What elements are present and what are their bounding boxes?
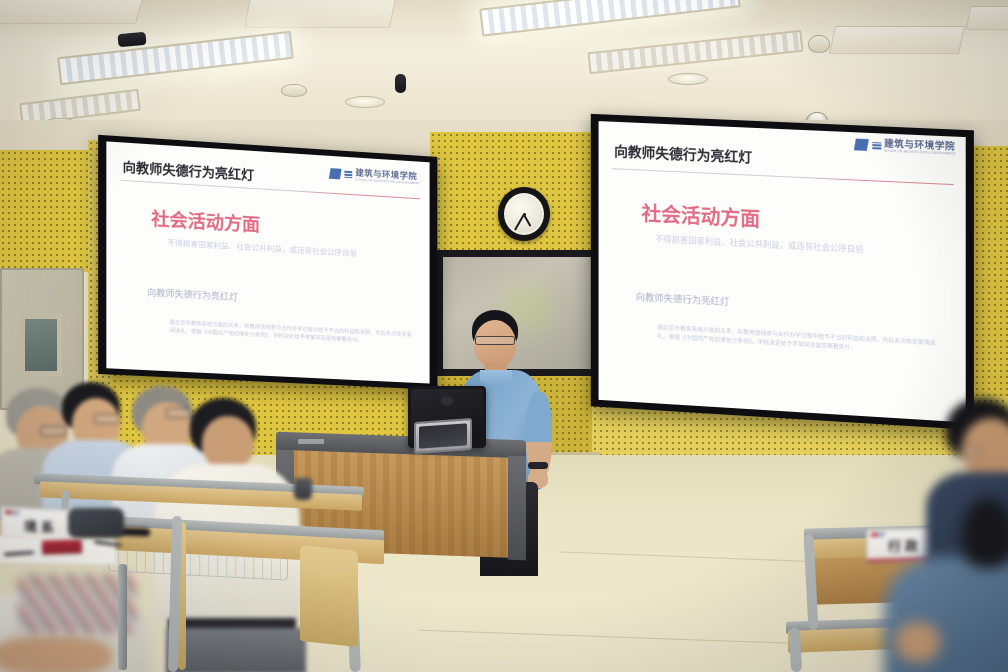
slide-section-heading: 向教师失德行为亮红灯 [147,285,238,303]
ceiling-speaker-2 [395,74,406,93]
clock-face [506,195,542,233]
left-slide: 向教师失德行为亮红灯 建筑与环境学院 SCHOOL OF ARCHITECTUR… [106,141,429,383]
placard-right-text: 行政 [888,535,922,555]
institution-logo-right: 建筑与环境学院 SCHOOL OF ARCHITECTURE & ENVIRON… [854,138,956,155]
placard-logo-icon-right [871,533,885,537]
monitor-logo-icon [441,396,453,406]
slide-title: 向教师失德行为亮红灯 [123,157,254,184]
wall-clock [498,187,550,241]
slide-subtitle: 不得损害国家利益、社会公共利益，或违背社会公序良俗 [167,237,357,259]
chair-back-left-3 [300,545,358,647]
presenter-watch [528,462,548,469]
presenter-glasses [475,336,515,345]
slide-header-rule-right [612,168,953,185]
smoke-detector-1 [281,84,307,97]
bag-on-chair [68,508,124,538]
attendee-a1-glasses [40,426,66,436]
cup-on-desk [294,478,312,500]
slide-title-right: 向教师失德行为亮红灯 [614,142,752,168]
desk-front-leg [118,564,127,670]
ceiling-panel-far-right [965,6,1008,30]
attendee-a5-glasses [954,446,980,458]
slide-section-heading-right: 向教师失德行为亮红灯 [636,289,730,308]
attendee-a3-glasses [166,408,192,418]
lecture-hall-photo: 向教师失德行为亮红灯 建筑与环境学院 SCHOOL OF ARCHITECTUR… [0,0,1008,672]
logo-bars-icon-right [872,142,881,150]
slide-heading-right: 社会活动方面 [642,197,761,232]
left-projection-screen: 向教师失德行为亮红灯 建筑与环境学院 SCHOOL OF ARCHITECTUR… [98,135,437,390]
ceiling-speaker-1 [117,32,146,47]
ceiling-panel-left [0,0,144,24]
attendee-a6-hand [896,622,940,662]
slide-body-text-right: 据北京市教育系统方面的关系，有教师违规参与合作办学过程中给予不当的利益和关照，先… [657,324,941,358]
podium-right-edge [508,456,526,561]
placard-left-text: 境系 [24,516,58,537]
slide-header-rule [121,180,420,200]
chair-frame-right-2 [789,628,802,672]
slide-heading: 社会活动方面 [151,205,260,238]
attendee-a2-glasses [94,414,120,424]
presenter-collar [480,370,512,386]
smoke-detector-2 [808,35,830,53]
red-booklet [42,539,82,554]
ceiling-panel-mid [244,0,399,28]
logo-mark-icon [329,168,342,180]
ceiling-panel-right [829,26,965,54]
placard-logo-icon [5,510,19,515]
logo-mark-icon-right [854,139,869,152]
door-window [20,314,62,376]
clock-minute-hand [514,214,524,230]
attendee-a4-head [202,416,254,470]
keyboard-lid-inner [419,423,467,448]
clock-hour-hand [523,215,531,227]
institution-logo: 建筑与环境学院 SCHOOL OF ARCHITECTURE & ENVIRON… [329,168,420,185]
attendee-a6-head [962,498,1008,568]
slide-body-text: 据北京市教育系统方面的关系，有教师违规参与合作办学过程中给予不当的利益和关照，先… [169,319,416,348]
logo-bars-icon [345,171,353,178]
ceiling-downlight-1 [345,96,385,108]
right-slide: 向教师失德行为亮红灯 建筑与环境学院 SCHOOL OF ARCHITECTUR… [599,121,966,422]
right-projection-screen: 向教师失德行为亮红灯 建筑与环境学院 SCHOOL OF ARCHITECTUR… [591,114,974,430]
slide-subtitle-right: 不得损害国家利益、社会公共利益，或违背社会公序良俗 [655,233,863,256]
desk-row-left-rear [34,480,364,504]
podium-keyboard-lid[interactable] [414,418,472,454]
ceiling-downlight-2 [668,73,708,85]
